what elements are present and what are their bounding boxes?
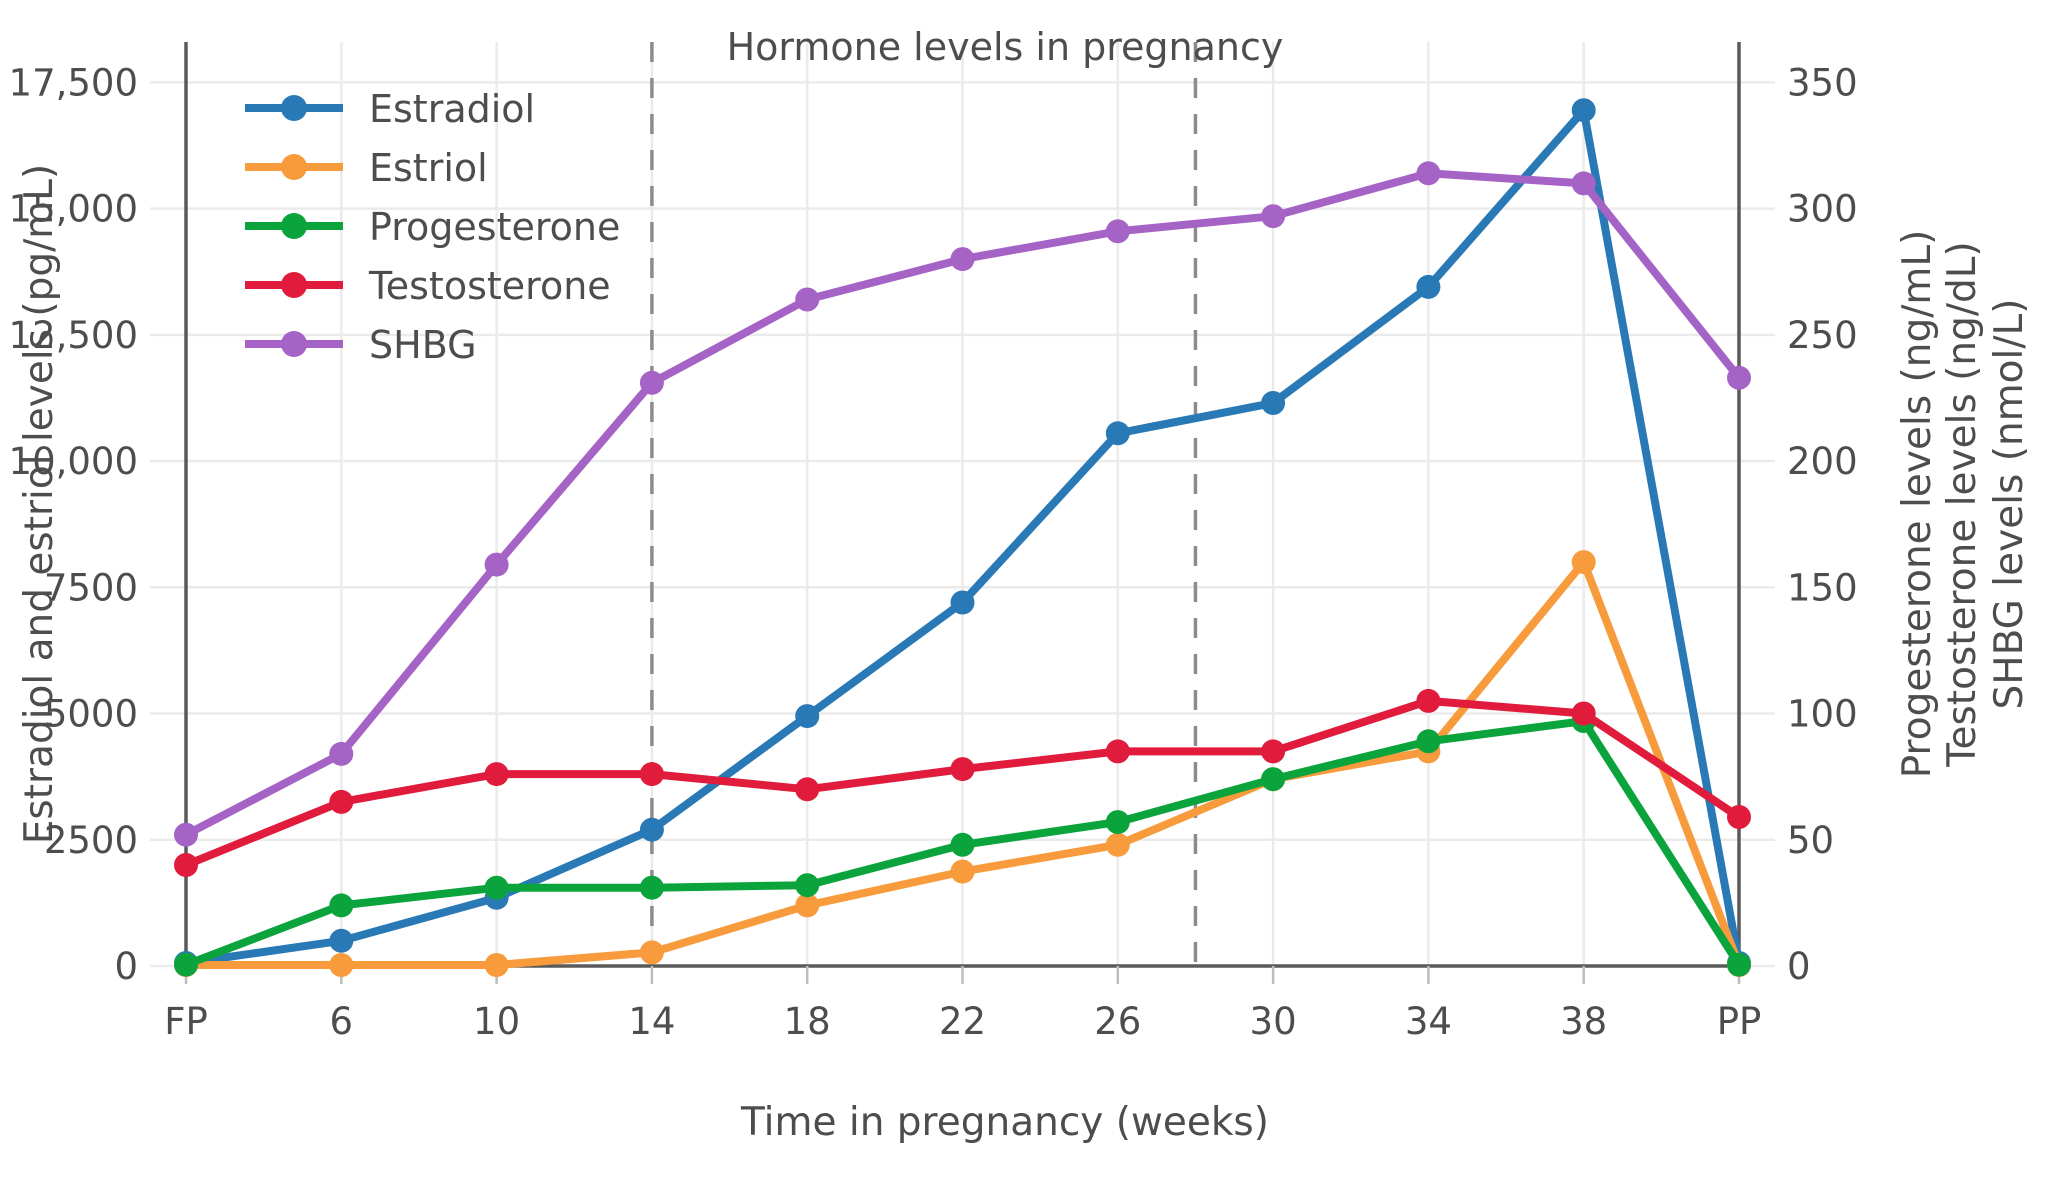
y-axis-right-tick-label: 100 bbox=[1787, 693, 1858, 736]
y-axis-right-title-progesterone: Progesterone levels (ng/mL) bbox=[1895, 230, 1940, 779]
data-point-shbg bbox=[485, 553, 509, 577]
legend-label-estradiol: Estradiol bbox=[369, 87, 535, 131]
y-axis-right-tick-label: 0 bbox=[1787, 945, 1811, 988]
data-point-shbg bbox=[329, 742, 353, 766]
data-point-shbg bbox=[1572, 171, 1596, 195]
legend-marker-progesterone bbox=[281, 213, 307, 239]
data-point-estradiol bbox=[795, 704, 819, 728]
y-axis-right-tick-label: 50 bbox=[1787, 819, 1834, 862]
data-point-shbg bbox=[795, 288, 819, 312]
data-point-estriol bbox=[951, 860, 975, 884]
data-point-testosterone bbox=[1416, 689, 1440, 713]
legend-marker-shbg bbox=[281, 331, 307, 357]
data-point-estriol bbox=[485, 953, 509, 977]
y-axis-right-tick-label: 200 bbox=[1787, 440, 1858, 483]
data-point-estradiol bbox=[951, 591, 975, 615]
y-axis-left-title: Estradiol and estriol levels (pg/mL) bbox=[17, 164, 62, 844]
data-point-testosterone bbox=[1727, 805, 1751, 829]
y-axis-right-title-testosterone: Testosterone levels (ng/dL) bbox=[1940, 241, 1985, 767]
data-point-shbg bbox=[174, 823, 198, 847]
data-point-progesterone bbox=[1261, 767, 1285, 791]
data-point-estradiol bbox=[329, 929, 353, 953]
hormone-levels-line-chart: 025005000750010,00012,50015,00017,500 05… bbox=[0, 0, 2048, 1196]
legend-item-testosterone[interactable]: Testosterone bbox=[245, 264, 611, 308]
data-point-testosterone bbox=[795, 777, 819, 801]
x-axis-tick-labels: FP61014182226303438PP bbox=[164, 1000, 1761, 1043]
data-point-shbg bbox=[1727, 366, 1751, 390]
data-point-estriol bbox=[329, 953, 353, 977]
y-axis-right-tick-labels: 050100150200250300350 bbox=[1787, 61, 1858, 988]
data-point-progesterone bbox=[951, 833, 975, 857]
data-point-estradiol bbox=[640, 818, 664, 842]
data-point-estriol bbox=[1572, 550, 1596, 574]
x-axis-title: Time in pregnancy (weeks) bbox=[740, 1100, 1269, 1145]
legend-label-estriol: Estriol bbox=[369, 146, 488, 190]
data-point-estriol bbox=[1106, 833, 1130, 857]
data-point-testosterone bbox=[174, 853, 198, 877]
data-point-shbg bbox=[640, 371, 664, 395]
legend-marker-estradiol bbox=[281, 95, 307, 121]
legend-item-shbg[interactable]: SHBG bbox=[245, 323, 477, 367]
data-point-estradiol bbox=[1106, 421, 1130, 445]
x-axis-tick-label: FP bbox=[164, 1000, 208, 1043]
data-point-estradiol bbox=[1261, 391, 1285, 415]
data-point-shbg bbox=[1106, 219, 1130, 243]
data-point-estradiol bbox=[1416, 275, 1440, 299]
data-point-testosterone bbox=[329, 790, 353, 814]
data-point-shbg bbox=[1416, 161, 1440, 185]
data-point-testosterone bbox=[1106, 739, 1130, 763]
data-point-testosterone bbox=[1572, 702, 1596, 726]
x-axis-tick-label: 38 bbox=[1560, 1000, 1607, 1043]
y-axis-right-tick-label: 300 bbox=[1787, 188, 1858, 231]
x-axis-tick-label: 6 bbox=[330, 1000, 354, 1043]
data-point-progesterone bbox=[1106, 810, 1130, 834]
data-point-testosterone bbox=[1261, 739, 1285, 763]
legend-item-progesterone[interactable]: Progesterone bbox=[245, 205, 620, 249]
data-point-progesterone bbox=[485, 876, 509, 900]
data-point-shbg bbox=[1261, 204, 1285, 228]
x-axis-tick-label: 34 bbox=[1405, 1000, 1452, 1043]
data-point-progesterone bbox=[329, 893, 353, 917]
x-axis-tick-label: 26 bbox=[1094, 1000, 1141, 1043]
x-axis-tick-label: PP bbox=[1717, 1000, 1762, 1043]
data-point-progesterone bbox=[1416, 729, 1440, 753]
data-point-shbg bbox=[951, 247, 975, 271]
data-point-estriol bbox=[640, 940, 664, 964]
legend-label-testosterone: Testosterone bbox=[368, 264, 611, 308]
y-axis-right-title-shbg: SHBG levels (nmol/L) bbox=[1987, 299, 2032, 710]
legend-item-estradiol[interactable]: Estradiol bbox=[245, 87, 535, 131]
y-axis-right-tick-label: 150 bbox=[1787, 566, 1858, 609]
x-axis-tick-label: 22 bbox=[939, 1000, 986, 1043]
legend-marker-testosterone bbox=[281, 272, 307, 298]
legend-item-estriol[interactable]: Estriol bbox=[245, 146, 488, 190]
x-axis-tick-label: 14 bbox=[628, 1000, 675, 1043]
x-axis-tick-label: 30 bbox=[1250, 1000, 1297, 1043]
data-point-progesterone bbox=[174, 953, 198, 977]
y-axis-left-tick-label: 17,500 bbox=[9, 61, 138, 104]
x-axis-tick-label: 10 bbox=[473, 1000, 520, 1043]
legend-marker-estriol bbox=[281, 154, 307, 180]
legend-label-progesterone: Progesterone bbox=[369, 205, 620, 249]
data-point-progesterone bbox=[795, 873, 819, 897]
legend-label-shbg: SHBG bbox=[369, 323, 477, 367]
data-point-progesterone bbox=[640, 876, 664, 900]
data-point-testosterone bbox=[640, 762, 664, 786]
x-axis-tick-label: 18 bbox=[784, 1000, 831, 1043]
y-axis-right-tick-label: 350 bbox=[1787, 61, 1858, 104]
chart-container: 025005000750010,00012,50015,00017,500 05… bbox=[0, 0, 2048, 1196]
data-point-progesterone bbox=[1727, 953, 1751, 977]
chart-title: Hormone levels in pregnancy bbox=[727, 25, 1284, 69]
y-axis-right-tick-label: 250 bbox=[1787, 314, 1858, 357]
data-point-testosterone bbox=[485, 762, 509, 786]
data-point-estradiol bbox=[1572, 98, 1596, 122]
chart-legend: EstradiolEstriolProgesteroneTestosterone… bbox=[245, 87, 620, 367]
data-point-testosterone bbox=[951, 757, 975, 781]
y-axis-left-tick-label: 0 bbox=[114, 945, 138, 988]
